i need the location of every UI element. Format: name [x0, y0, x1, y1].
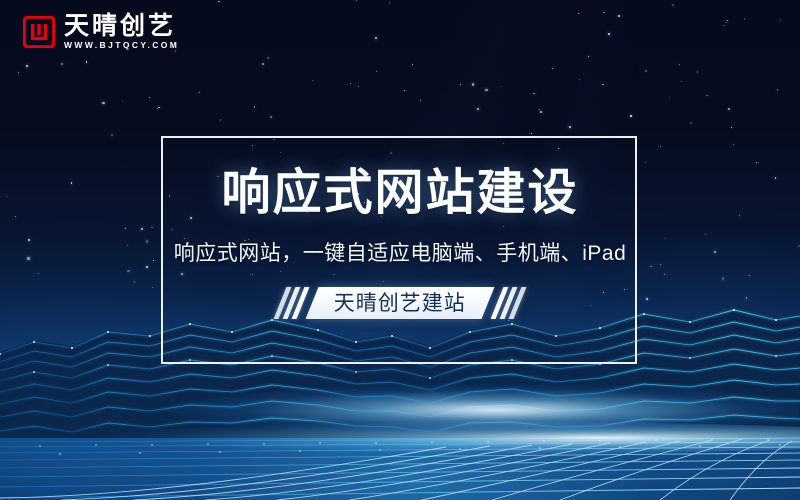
- star-dot: [254, 106, 256, 108]
- star-dot: [312, 80, 314, 82]
- star-dot: [485, 89, 487, 91]
- star-dot: [578, 13, 579, 14]
- star-dot: [669, 97, 670, 98]
- star-dot: [603, 12, 605, 14]
- star-dot: [569, 126, 571, 128]
- star-dot: [727, 20, 728, 21]
- star-dot: [267, 57, 269, 59]
- star-dot: [690, 122, 692, 124]
- star-dot: [262, 63, 264, 65]
- star-dot: [472, 83, 474, 85]
- slash-decoration-left: [280, 287, 303, 319]
- star-dot: [501, 86, 502, 87]
- star-dot: [61, 63, 63, 65]
- headline-content: 响应式网站建设 响应式网站，一键自适应电脑端、手机端、iPad 天晴创艺建站: [0, 136, 800, 364]
- star-dot: [477, 108, 479, 110]
- star-dot: [726, 22, 727, 23]
- star-dot: [681, 81, 683, 83]
- slash-decoration-right: [497, 287, 520, 319]
- star-dot: [420, 100, 421, 101]
- star-dot: [157, 108, 158, 109]
- star-dot: [552, 68, 553, 69]
- star-dot: [728, 108, 730, 110]
- star-dot: [531, 133, 532, 134]
- brand-badge-row: 天晴创艺建站: [280, 286, 520, 320]
- logo-brand-name: 天晴创艺: [64, 14, 179, 39]
- star-dot: [86, 61, 88, 63]
- star-dot: [199, 92, 200, 93]
- star-dot: [218, 1, 220, 3]
- star-dot: [679, 64, 681, 66]
- star-dot: [122, 101, 123, 102]
- star-dot: [358, 86, 359, 87]
- star-dot: [376, 71, 377, 72]
- star-dot: [404, 90, 405, 91]
- star-dot: [608, 33, 610, 35]
- star-dot: [618, 15, 620, 17]
- star-dot: [579, 79, 580, 80]
- star-dot: [706, 95, 708, 97]
- star-dot: [697, 71, 699, 73]
- star-dot: [602, 84, 604, 86]
- brand-badge-label: 天晴创艺建站: [334, 293, 466, 314]
- star-dot: [723, 25, 725, 27]
- star-dot: [375, 37, 377, 39]
- page-subtitle: 响应式网站，一键自适应电脑端、手机端、iPad: [174, 243, 627, 264]
- star-dot: [389, 2, 391, 4]
- star-dot: [539, 109, 540, 110]
- star-dot: [149, 97, 150, 98]
- star-dot: [350, 83, 351, 84]
- star-dot: [26, 65, 28, 67]
- hero-banner: 天晴创艺 WWW.BJTQCY.COM 响应式网站建设 响应式网站，一键自适应电…: [0, 0, 800, 500]
- star-dot: [731, 127, 732, 128]
- brand-badge[interactable]: 天晴创艺建站: [306, 287, 495, 319]
- star-dot: [460, 84, 462, 86]
- star-dot: [175, 50, 177, 52]
- site-logo[interactable]: 天晴创艺 WWW.BJTQCY.COM: [23, 14, 179, 50]
- star-dot: [630, 115, 632, 117]
- logo-website-url: WWW.BJTQCY.COM: [64, 41, 179, 50]
- star-dot: [18, 72, 19, 73]
- star-dot: [777, 89, 779, 91]
- star-dot: [588, 56, 589, 57]
- star-dot: [533, 93, 535, 95]
- star-dot: [220, 119, 222, 121]
- star-dot: [412, 64, 413, 65]
- star-dot: [780, 20, 781, 21]
- star-dot: [270, 116, 272, 118]
- star-dot: [645, 70, 647, 72]
- star-dot: [744, 18, 746, 20]
- star-dot: [102, 102, 104, 104]
- star-dot: [672, 4, 674, 6]
- tianqing-square-logo-icon: [23, 16, 55, 48]
- star-dot: [158, 107, 160, 109]
- logo-text-block: 天晴创艺 WWW.BJTQCY.COM: [64, 14, 179, 50]
- star-dot: [356, 0, 357, 1]
- page-title: 响应式网站建设: [221, 169, 578, 218]
- star-dot: [540, 111, 542, 113]
